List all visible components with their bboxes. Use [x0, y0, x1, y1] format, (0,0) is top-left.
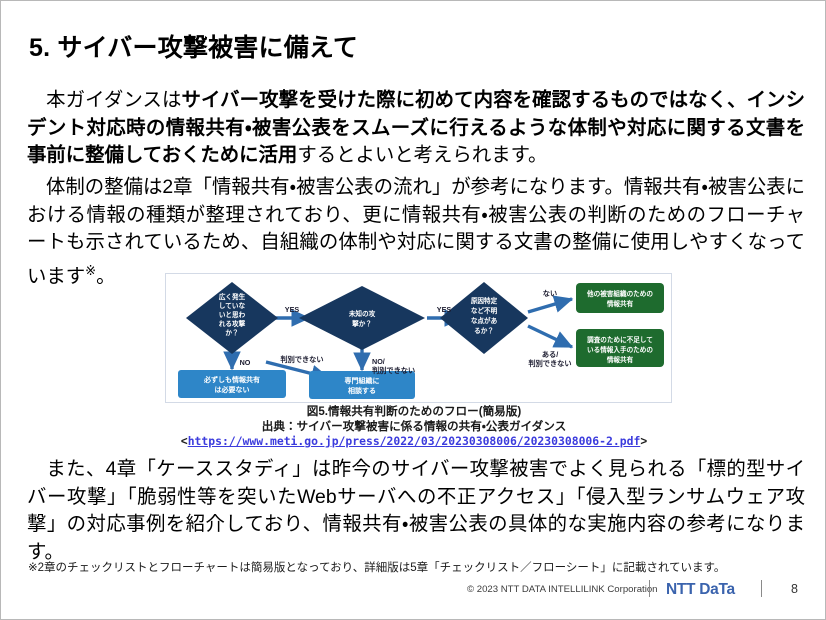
flow-action-2: 専門組織に 相談する [309, 371, 415, 399]
footer-divider-left [649, 580, 650, 597]
paragraph-2-end: 。 [96, 265, 115, 287]
flow-decision-3-line-2: など不明 [471, 306, 498, 315]
edge-label-no-1: NO [240, 358, 251, 367]
flow-decision-2: 未知の攻 撃か？ [299, 286, 425, 350]
flow-decision-1-line-2: していな [219, 301, 246, 310]
caption-source-url-line: <https://www.meti.go.jp/press/2022/03/20… [1, 434, 826, 450]
flow-decision-1-line-5: か？ [225, 329, 238, 337]
footnote-marker: ※ [85, 263, 96, 278]
slide-canvas: 5. サイバー攻撃被害に備えて 本ガイダンスはサイバー攻撃を受けた際に初めて内容… [0, 0, 826, 620]
paragraph-1-plain-start: 本ガイダンスは [46, 89, 181, 111]
flow-outcome-1: 他の被害組織のための 情報共有 [576, 283, 664, 313]
flow-decision-3-line-4: るか？ [474, 327, 494, 335]
flow-action-2-line-2: 相談する [348, 386, 376, 395]
nttdata-logo: NTT DaTa [666, 581, 735, 599]
flow-outcome-1-line-2: 情報共有 [607, 299, 634, 308]
flow-decision-2-line-2: 撃か？ [352, 319, 372, 328]
flow-decision-1-line-1: 広く発生 [219, 292, 246, 301]
flow-decision-3: 原因特定 など不明 な点があ るか？ [440, 282, 528, 354]
flow-decision-3-line-3: な点があ [471, 316, 498, 325]
paragraph-1: 本ガイダンスはサイバー攻撃を受けた際に初めて内容を確認するものではなく、インシデ… [27, 87, 805, 170]
flow-outcome-2-line-1: 調査のために不足して [587, 335, 653, 344]
paragraph-1-plain-end: するとよいと考えられます。 [297, 144, 547, 166]
paragraph-3: また、4章「ケーススタディ」は昨今のサイバー攻撃被害でよく見られる「標的型サイバ… [27, 456, 805, 566]
flow-action-1-line-1: 必ずしも情報共有 [203, 375, 260, 384]
flow-decision-1-line-3: いと思わ [219, 310, 246, 319]
edge-label-no-2-line-2: 判別できない [372, 366, 415, 375]
figure-caption: 図5.情報共有判断のためのフロー(簡易版) 出典：サイバー攻撃被害に係る情報の共… [1, 405, 826, 450]
footer-divider-right [761, 580, 762, 597]
paragraph-2-text: 体制の整備は2章「情報共有・被害公表の流れ」が参考になります。情報共有・被害公表… [27, 176, 805, 287]
source-url-link[interactable]: https://www.meti.go.jp/press/2022/03/202… [188, 434, 641, 448]
paragraph-3-text: また、4章「ケーススタディ」は昨今のサイバー攻撃被害でよく見られる「標的型サイバ… [27, 458, 805, 563]
flow-outcome-2: 調査のために不足して いる情報入手のための 情報共有 [576, 329, 664, 367]
flowchart-svg: 広く発生 していな いと思わ れる攻撃 か？ 未知の攻 撃か？ 原因特定 など不… [166, 274, 671, 402]
edge-label-undetermined-1: 判別できない [280, 355, 323, 364]
arrow-d3-exists [528, 326, 572, 347]
flow-decision-1: 広く発生 していな いと思わ れる攻撃 か？ [186, 282, 278, 354]
url-close-bracket: > [640, 435, 647, 448]
flow-action-2-line-1: 専門組織に [345, 376, 380, 385]
edge-label-none: ない [543, 289, 557, 298]
flow-decision-3-line-1: 原因特定 [471, 296, 498, 305]
copyright-text: © 2023 NTT DATA INTELLILINK Corporation [467, 584, 658, 595]
page-number: 8 [791, 582, 798, 596]
caption-line-1: 図5.情報共有判断のためのフロー(簡易版) [1, 405, 826, 420]
flow-decision-1-line-4: れる攻撃 [219, 319, 246, 328]
flow-action-1: 必ずしも情報共有 は必要ない [178, 370, 286, 398]
flow-outcome-1-line-1: 他の被害組織のための [586, 289, 653, 298]
flow-outcome-2-line-3: 情報共有 [607, 355, 634, 364]
flow-outcome-2-line-2: いる情報入手のための [587, 345, 653, 354]
edge-label-exists-line-1: ある/ [542, 350, 558, 359]
edge-label-yes-1: YES [285, 305, 300, 314]
page-title: 5. サイバー攻撃被害に備えて [29, 28, 358, 64]
url-open-bracket: < [181, 435, 188, 448]
slide-footer: © 2023 NTT DATA INTELLILINK Corporation … [1, 579, 826, 607]
edge-label-exists-line-2: 判別できない [528, 359, 571, 368]
figure-flowchart: 広く発生 していな いと思わ れる攻撃 か？ 未知の攻 撃か？ 原因特定 など不… [165, 273, 672, 403]
arrow-d3-none [528, 299, 572, 312]
flow-decision-2-line-1: 未知の攻 [349, 309, 376, 318]
edge-label-yes-2: YES [437, 305, 452, 314]
flow-action-1-line-2: は必要ない [215, 385, 250, 394]
caption-line-2: 出典：サイバー攻撃被害に係る情報の共有・公表ガイダンス [1, 420, 826, 435]
footnote-text: ※2章のチェックリストとフローチャートは簡易版となっており、詳細版は5章「チェッ… [28, 559, 725, 575]
edge-label-no-2-line-1: NO/ [372, 357, 385, 366]
